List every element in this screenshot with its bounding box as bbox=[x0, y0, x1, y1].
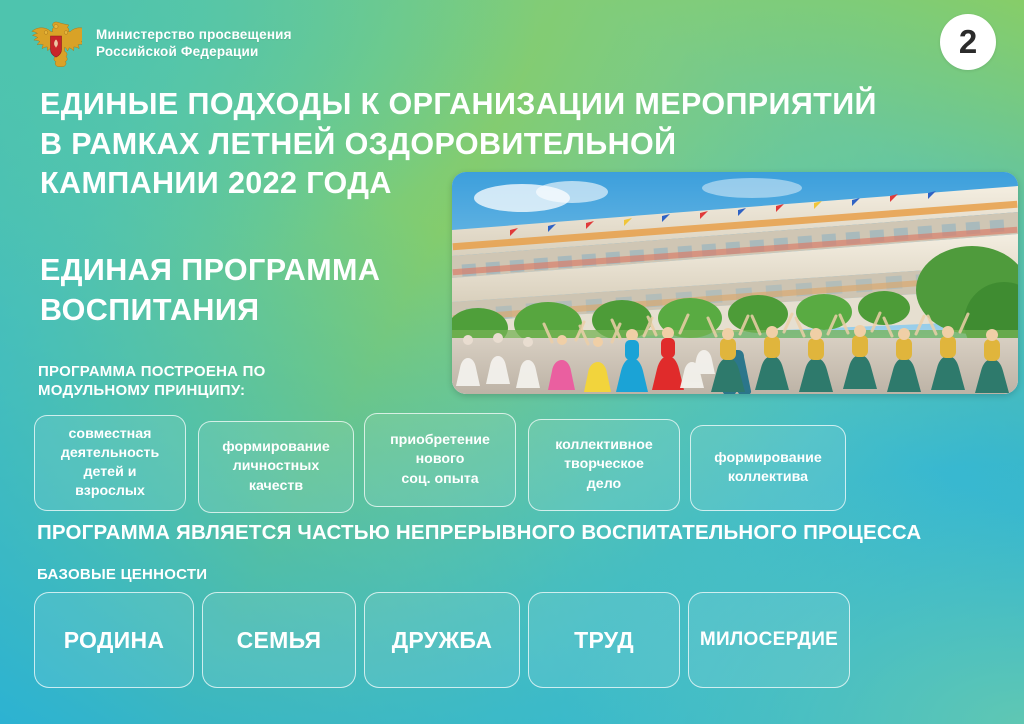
value-card-label: РОДИНА bbox=[64, 627, 165, 654]
value-card[interactable]: РОДИНА bbox=[34, 592, 194, 688]
page-subtitle: ЕДИНАЯ ПРОГРАММА ВОСПИТАНИЯ bbox=[40, 250, 380, 331]
module-card-line: нового bbox=[390, 450, 490, 469]
module-card-line: формирование bbox=[714, 449, 822, 468]
module-card-line: формирование bbox=[222, 438, 330, 457]
value-card-label: МИЛОСЕРДИЕ bbox=[700, 629, 838, 651]
camp-mass-dance-photo bbox=[452, 172, 1018, 394]
module-card[interactable]: формирование личностных качеств bbox=[198, 421, 354, 513]
value-card-label: ТРУД bbox=[574, 627, 634, 654]
module-card-line: совместная bbox=[61, 425, 159, 444]
module-card[interactable]: совместная деятельность детей и взрослых bbox=[34, 415, 186, 511]
value-card[interactable]: СЕМЬЯ bbox=[202, 592, 356, 688]
value-cards: РОДИНА СЕМЬЯ ДРУЖБА ТРУД МИЛОСЕРДИЕ bbox=[34, 592, 850, 688]
module-card-line: творческое bbox=[555, 455, 653, 474]
modular-principle-label: ПРОГРАММА ПОСТРОЕНА ПО МОДУЛЬНОМУ ПРИНЦИ… bbox=[38, 363, 266, 401]
module-card-line: соц. опыта bbox=[390, 470, 490, 489]
modular-label-line-1: ПРОГРАММА ПОСТРОЕНА ПО bbox=[38, 363, 266, 382]
module-card[interactable]: приобретение нового соц. опыта bbox=[364, 413, 516, 507]
ministry-header: Министерство просвещения Российской Феде… bbox=[30, 18, 292, 68]
module-card-line: дело bbox=[555, 475, 653, 494]
module-card-line: взрослых bbox=[61, 482, 159, 501]
title-line-3: КАМПАНИИ 2022 ГОДА bbox=[40, 164, 877, 204]
module-card-line: детей и bbox=[61, 463, 159, 482]
module-card-line: коллектива bbox=[714, 468, 822, 487]
subtitle-line-1: ЕДИНАЯ ПРОГРАММА bbox=[40, 250, 380, 290]
value-card[interactable]: ДРУЖБА bbox=[364, 592, 520, 688]
module-cards: совместная деятельность детей и взрослых… bbox=[34, 415, 846, 515]
russian-federation-coat-of-arms-icon bbox=[30, 18, 82, 68]
slide: Министерство просвещения Российской Феде… bbox=[0, 0, 1024, 724]
module-card-line: деятельность bbox=[61, 444, 159, 463]
value-card-label: СЕМЬЯ bbox=[237, 627, 322, 654]
page-title: ЕДИНЫЕ ПОДХОДЫ К ОРГАНИЗАЦИИ МЕРОПРИЯТИЙ… bbox=[40, 85, 877, 204]
page-number-badge: 2 bbox=[940, 14, 996, 70]
module-card[interactable]: коллективное творческое дело bbox=[528, 419, 680, 511]
module-card-line: личностных bbox=[222, 457, 330, 476]
modular-label-line-2: МОДУЛЬНОМУ ПРИНЦИПУ: bbox=[38, 382, 266, 401]
module-card[interactable]: формирование коллектива bbox=[690, 425, 846, 511]
value-card[interactable]: ТРУД bbox=[528, 592, 680, 688]
module-card-line: качеств bbox=[222, 477, 330, 496]
ministry-line-2: Российской Федерации bbox=[96, 43, 292, 60]
base-values-label: БАЗОВЫЕ ЦЕННОСТИ bbox=[37, 566, 207, 583]
process-banner-text: ПРОГРАММА ЯВЛЯЕТСЯ ЧАСТЬЮ НЕПРЕРЫВНОГО В… bbox=[37, 521, 921, 545]
ministry-name: Министерство просвещения Российской Феде… bbox=[96, 26, 292, 61]
value-card[interactable]: МИЛОСЕРДИЕ bbox=[688, 592, 850, 688]
value-card-label: ДРУЖБА bbox=[392, 627, 493, 654]
title-line-1: ЕДИНЫЕ ПОДХОДЫ К ОРГАНИЗАЦИИ МЕРОПРИЯТИЙ bbox=[40, 85, 877, 125]
module-card-line: коллективное bbox=[555, 436, 653, 455]
subtitle-line-2: ВОСПИТАНИЯ bbox=[40, 290, 380, 330]
ministry-line-1: Министерство просвещения bbox=[96, 26, 292, 43]
title-line-2: В РАМКАХ ЛЕТНЕЙ ОЗДОРОВИТЕЛЬНОЙ bbox=[40, 125, 877, 165]
module-card-line: приобретение bbox=[390, 431, 490, 450]
